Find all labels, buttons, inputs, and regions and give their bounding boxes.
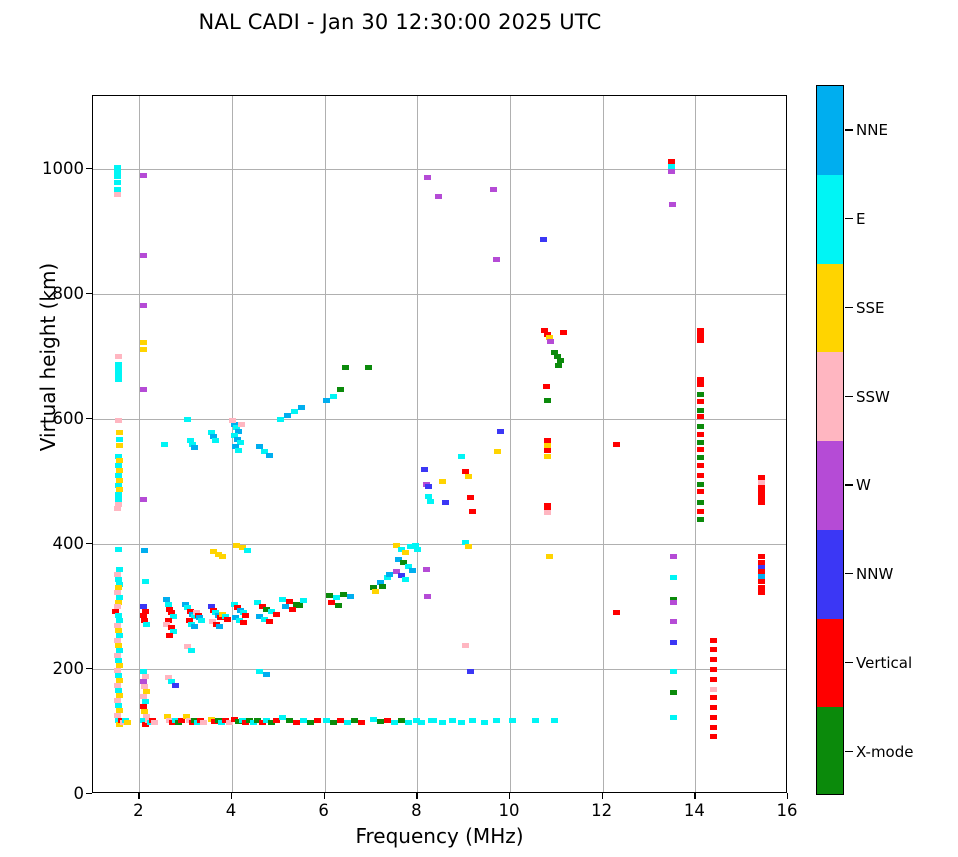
echo-pixel xyxy=(115,354,122,359)
echo-pixel xyxy=(697,517,704,522)
echo-pixel xyxy=(114,174,121,179)
echo-pixel xyxy=(340,592,347,597)
echo-pixel xyxy=(263,672,270,677)
echo-pixel xyxy=(166,633,173,638)
echo-pixel xyxy=(344,720,351,725)
echo-pixel xyxy=(481,720,488,725)
echo-pixel xyxy=(544,448,551,453)
echo-pixel xyxy=(300,718,307,723)
echo-pixel xyxy=(543,384,550,389)
echo-pixel xyxy=(547,339,554,344)
echo-pixel xyxy=(710,647,717,652)
colorbar-label-nne: NNE xyxy=(856,121,888,139)
echo-pixel xyxy=(347,594,354,599)
echo-pixel xyxy=(242,613,249,618)
echo-pixel xyxy=(697,447,704,452)
echo-pixel xyxy=(532,718,539,723)
echo-pixel xyxy=(188,648,195,653)
echo-pixel xyxy=(465,474,472,479)
echo-pixel xyxy=(235,448,242,453)
echo-pixel xyxy=(710,677,717,682)
colorbar-segment-vertical[interactable] xyxy=(817,619,843,708)
echo-pixel xyxy=(377,719,384,724)
echo-pixel xyxy=(114,506,121,511)
echo-pixel xyxy=(291,409,298,414)
echo-pixel xyxy=(697,392,704,397)
y-tick-mark xyxy=(86,293,92,294)
echo-pixel xyxy=(296,603,303,608)
echo-pixel xyxy=(424,594,431,599)
colorbar-label-vertical: Vertical xyxy=(856,654,912,672)
echo-pixel xyxy=(384,718,391,723)
echo-pixel xyxy=(697,382,704,387)
gridline-vertical xyxy=(695,96,696,792)
echo-pixel xyxy=(697,414,704,419)
y-tick-mark xyxy=(86,668,92,669)
gridline-horizontal xyxy=(93,669,786,670)
echo-pixel xyxy=(140,253,147,258)
echo-pixel xyxy=(710,734,717,739)
echo-pixel xyxy=(266,453,273,458)
echo-pixel xyxy=(710,705,717,710)
echo-pixel xyxy=(372,589,379,594)
echo-pixel xyxy=(546,554,553,559)
echo-pixel xyxy=(670,690,677,695)
gridline-horizontal xyxy=(93,544,786,545)
echo-pixel xyxy=(670,600,677,605)
echo-pixel xyxy=(758,554,765,559)
gridline-horizontal xyxy=(93,419,786,420)
echo-pixel xyxy=(328,600,335,605)
gridline-vertical xyxy=(603,96,604,792)
x-tick-mark xyxy=(138,793,139,799)
echo-pixel xyxy=(414,547,421,552)
echo-pixel xyxy=(238,422,245,427)
echo-pixel xyxy=(427,499,434,504)
gridline-vertical xyxy=(417,96,418,792)
echo-pixel xyxy=(697,509,704,514)
echo-pixel xyxy=(365,365,372,370)
echo-pixel xyxy=(670,640,677,645)
y-tick-mark xyxy=(86,418,92,419)
echo-pixel xyxy=(544,454,551,459)
echo-pixel xyxy=(551,718,558,723)
echo-pixel xyxy=(668,169,675,174)
echo-pixel xyxy=(115,377,122,382)
x-axis-label: Frequency (MHz) xyxy=(92,824,787,848)
echo-pixel xyxy=(140,173,147,178)
colorbar-segment-w[interactable] xyxy=(817,441,843,530)
echo-pixel xyxy=(467,669,474,674)
echo-pixel xyxy=(423,567,430,572)
x-tick-mark xyxy=(787,793,788,799)
y-tick-label: 200 xyxy=(14,659,84,678)
echo-pixel xyxy=(379,584,386,589)
echo-pixel xyxy=(544,398,551,403)
echo-pixel xyxy=(465,544,472,549)
x-tick-label: 8 xyxy=(386,801,446,820)
echo-pixel xyxy=(710,687,717,692)
echo-pixel xyxy=(337,387,344,392)
echo-pixel xyxy=(555,363,562,368)
x-tick-label: 6 xyxy=(294,801,354,820)
echo-pixel xyxy=(151,720,158,725)
echo-pixel xyxy=(402,550,409,555)
echo-pixel xyxy=(449,718,456,723)
echo-pixel xyxy=(613,442,620,447)
echo-pixel xyxy=(279,715,286,720)
echo-pixel xyxy=(402,577,409,582)
echo-pixel xyxy=(697,399,704,404)
echo-pixel xyxy=(358,720,365,725)
colorbar-label-nnw: NNW xyxy=(856,565,893,583)
colorbar-tick xyxy=(845,396,853,397)
colorbar-tick xyxy=(845,484,853,485)
echo-pixel xyxy=(219,554,226,559)
echo-pixel xyxy=(405,720,412,725)
echo-pixel xyxy=(140,340,147,345)
echo-pixel xyxy=(229,418,236,423)
y-tick-label: 0 xyxy=(14,784,84,803)
echo-pixel xyxy=(240,620,247,625)
echo-pixel xyxy=(391,720,398,725)
figure-title: NAL CADI - Jan 30 12:30:00 2025 UTC xyxy=(0,10,800,34)
echo-pixel xyxy=(323,398,330,403)
echo-pixel xyxy=(540,237,547,242)
echo-pixel xyxy=(140,387,147,392)
colorbar-tick xyxy=(845,751,853,752)
echo-pixel xyxy=(710,695,717,700)
echo-pixel xyxy=(710,715,717,720)
echo-pixel xyxy=(418,720,425,725)
echo-pixel xyxy=(435,194,442,199)
echo-pixel xyxy=(266,619,273,624)
echo-pixel xyxy=(224,617,231,622)
echo-pixel xyxy=(184,417,191,422)
echo-pixel xyxy=(697,408,704,413)
echo-pixel xyxy=(697,463,704,468)
echo-pixel xyxy=(758,590,765,595)
echo-pixel xyxy=(613,610,620,615)
echo-pixel xyxy=(670,619,677,624)
echo-pixel xyxy=(560,330,567,335)
echo-pixel xyxy=(469,718,476,723)
echo-pixel xyxy=(670,554,677,559)
echo-pixel xyxy=(293,720,300,725)
echo-pixel xyxy=(307,720,314,725)
echo-pixel xyxy=(326,593,333,598)
echo-pixel xyxy=(191,445,198,450)
echo-pixel xyxy=(314,718,321,723)
colorbar-segment-sse[interactable] xyxy=(817,264,843,353)
colorbar-label-e: E xyxy=(856,210,865,228)
y-tick-mark xyxy=(86,168,92,169)
echo-pixel xyxy=(710,667,717,672)
x-tick-mark xyxy=(509,793,510,799)
echo-pixel xyxy=(670,575,677,580)
echo-pixel xyxy=(330,394,337,399)
echo-pixel xyxy=(493,718,500,723)
echo-pixel xyxy=(509,718,516,723)
echo-pixel xyxy=(140,303,147,308)
y-axis-label: Virtual height (km) xyxy=(36,227,60,487)
echo-pixel xyxy=(141,548,148,553)
echo-pixel xyxy=(116,437,123,442)
echo-pixel xyxy=(282,604,289,609)
echo-pixel xyxy=(467,495,474,500)
colorbar-tick xyxy=(845,307,853,308)
echo-pixel xyxy=(370,717,377,722)
colorbar-label-sse: SSE xyxy=(856,299,885,317)
echo-pixel xyxy=(697,432,704,437)
echo-pixel xyxy=(669,202,676,207)
y-tick-label: 400 xyxy=(14,534,84,553)
echo-pixel xyxy=(140,497,147,502)
echo-pixel xyxy=(273,612,280,617)
echo-pixel xyxy=(330,720,337,725)
colorbar-tick xyxy=(845,573,853,574)
echo-pixel xyxy=(277,417,284,422)
echo-pixel xyxy=(697,338,704,343)
echo-pixel xyxy=(115,547,122,552)
echo-pixel xyxy=(116,443,123,448)
colorbar-tick xyxy=(845,218,853,219)
x-tick-mark xyxy=(694,793,695,799)
ionogram-figure: NAL CADI - Jan 30 12:30:00 2025 UTC 0200… xyxy=(0,0,958,857)
echo-pixel xyxy=(124,720,131,725)
echo-pixel xyxy=(256,669,263,674)
echo-pixel xyxy=(298,405,305,410)
echo-pixel xyxy=(458,720,465,725)
colorbar[interactable] xyxy=(816,85,844,795)
gridline-vertical xyxy=(510,96,511,792)
y-tick-label: 1000 xyxy=(14,159,84,178)
echo-pixel xyxy=(140,347,147,352)
echo-pixel xyxy=(697,424,704,429)
colorbar-tick xyxy=(845,129,853,130)
echo-pixel xyxy=(670,715,677,720)
colorbar-segment-x-mode[interactable] xyxy=(817,707,843,795)
echo-pixel xyxy=(697,440,704,445)
echo-pixel xyxy=(469,509,476,514)
echo-pixel xyxy=(335,603,342,608)
y-tick-mark xyxy=(86,543,92,544)
echo-pixel xyxy=(191,624,198,629)
echo-pixel xyxy=(142,579,149,584)
echo-pixel xyxy=(710,638,717,643)
echo-pixel xyxy=(442,500,449,505)
echo-pixel xyxy=(279,597,286,602)
echo-pixel xyxy=(323,718,330,723)
echo-pixel xyxy=(490,187,497,192)
x-tick-label: 16 xyxy=(757,801,817,820)
echo-pixel xyxy=(351,718,358,723)
colorbar-label-x-mode: X-mode xyxy=(856,743,913,761)
echo-pixel xyxy=(493,257,500,262)
colorbar-label-ssw: SSW xyxy=(856,388,890,406)
echo-pixel xyxy=(439,479,446,484)
echo-pixel xyxy=(710,657,717,662)
echo-pixel xyxy=(497,429,504,434)
echo-pixel xyxy=(439,720,446,725)
y-tick-mark xyxy=(86,793,92,794)
echo-pixel xyxy=(161,442,168,447)
x-tick-label: 4 xyxy=(201,801,261,820)
echo-pixel xyxy=(273,718,280,723)
echo-pixel xyxy=(697,500,704,505)
echo-pixel xyxy=(697,473,704,478)
echo-pixel xyxy=(758,500,765,505)
echo-pixel xyxy=(116,430,123,435)
echo-pixel xyxy=(462,643,469,648)
echo-pixel xyxy=(424,175,431,180)
echo-pixel xyxy=(289,607,296,612)
echo-pixel xyxy=(425,484,432,489)
echo-pixel xyxy=(458,454,465,459)
echo-pixel xyxy=(114,192,121,197)
x-tick-label: 14 xyxy=(664,801,724,820)
x-tick-mark xyxy=(324,793,325,799)
colorbar-segment-ssw[interactable] xyxy=(817,352,843,441)
colorbar-tick xyxy=(845,662,853,663)
x-tick-label: 12 xyxy=(572,801,632,820)
echo-pixel xyxy=(544,510,551,515)
gridline-vertical xyxy=(139,96,140,792)
echo-pixel xyxy=(670,669,677,674)
echo-pixel xyxy=(200,720,207,725)
echo-pixel xyxy=(386,572,393,577)
echo-pixel xyxy=(115,418,122,423)
echo-pixel xyxy=(337,718,344,723)
x-tick-label: 10 xyxy=(479,801,539,820)
echo-pixel xyxy=(172,683,179,688)
echo-pixel xyxy=(710,725,717,730)
echo-pixel xyxy=(697,455,704,460)
gridline-vertical xyxy=(325,96,326,792)
echo-pixel xyxy=(342,365,349,370)
gridline-horizontal xyxy=(93,169,786,170)
echo-pixel xyxy=(697,482,704,487)
colorbar-segment-nne[interactable] xyxy=(817,86,843,175)
colorbar-segment-nnw[interactable] xyxy=(817,530,843,619)
echo-pixel xyxy=(198,618,205,623)
plot-area[interactable] xyxy=(92,95,787,793)
echo-pixel xyxy=(398,718,405,723)
x-tick-mark xyxy=(602,793,603,799)
echo-pixel xyxy=(697,489,704,494)
x-tick-mark xyxy=(231,793,232,799)
echo-pixel xyxy=(114,180,121,185)
echo-pixel xyxy=(284,413,291,418)
x-tick-label: 2 xyxy=(108,801,168,820)
gridline-horizontal xyxy=(93,294,786,295)
echo-pixel xyxy=(216,624,223,629)
echo-pixel xyxy=(430,718,437,723)
colorbar-label-w: W xyxy=(856,476,871,494)
echo-pixel xyxy=(143,622,150,627)
echo-pixel xyxy=(212,438,219,443)
echo-pixel xyxy=(494,449,501,454)
echo-pixel xyxy=(244,548,251,553)
echo-pixel xyxy=(758,579,765,584)
echo-pixel xyxy=(409,568,416,573)
echo-pixel xyxy=(286,718,293,723)
colorbar-segment-e[interactable] xyxy=(817,175,843,264)
echo-pixel xyxy=(421,467,428,472)
x-tick-mark xyxy=(416,793,417,799)
